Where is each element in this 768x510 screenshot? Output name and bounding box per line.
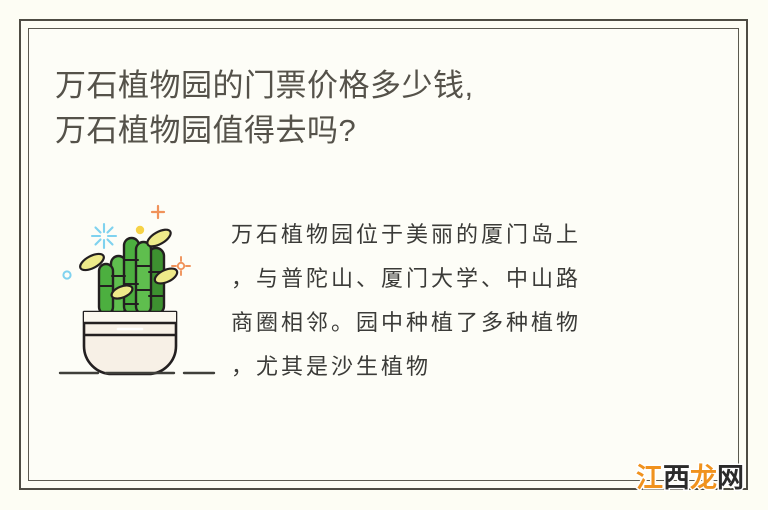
blue-dot-sparkle-icon	[63, 271, 70, 278]
watermark-char-3: 龙	[690, 462, 717, 496]
title-line-2: 万石植物园值得去吗?	[55, 108, 695, 153]
blue-starburst-sparkle-icon	[92, 224, 116, 248]
orange-plus-sparkle-icon	[152, 206, 164, 218]
yellow-dot-sparkle-icon	[136, 226, 144, 234]
bamboo-stalks	[99, 238, 164, 314]
page-title: 万石植物园的门票价格多少钱, 万石植物园值得去吗?	[55, 63, 695, 153]
watermark-char-4: 网	[717, 462, 744, 496]
body-line-2: ，与普陀山、厦门大学、中山路	[231, 258, 651, 302]
article-card-page: 万石植物园的门票价格多少钱, 万石植物园值得去吗?	[0, 0, 768, 510]
watermark-char-2: 西	[663, 462, 690, 496]
body-line-3: 商圈相邻。园中种植了多种植物	[231, 302, 651, 346]
plant-pot	[84, 312, 176, 374]
body-line-4: ，尤其是沙生植物	[231, 346, 651, 390]
body-line-1: 万石植物园位于美丽的厦门岛上	[231, 214, 651, 258]
watermark-char-1: 江	[636, 462, 663, 496]
site-watermark: 江 西 龙 网	[636, 462, 744, 496]
title-line-1: 万石植物园的门票价格多少钱,	[55, 63, 695, 108]
bamboo-plant-illustration	[56, 196, 232, 376]
article-body-text: 万石植物园位于美丽的厦门岛上 ，与普陀山、厦门大学、中山路 商圈相邻。园中种植了…	[231, 214, 651, 390]
